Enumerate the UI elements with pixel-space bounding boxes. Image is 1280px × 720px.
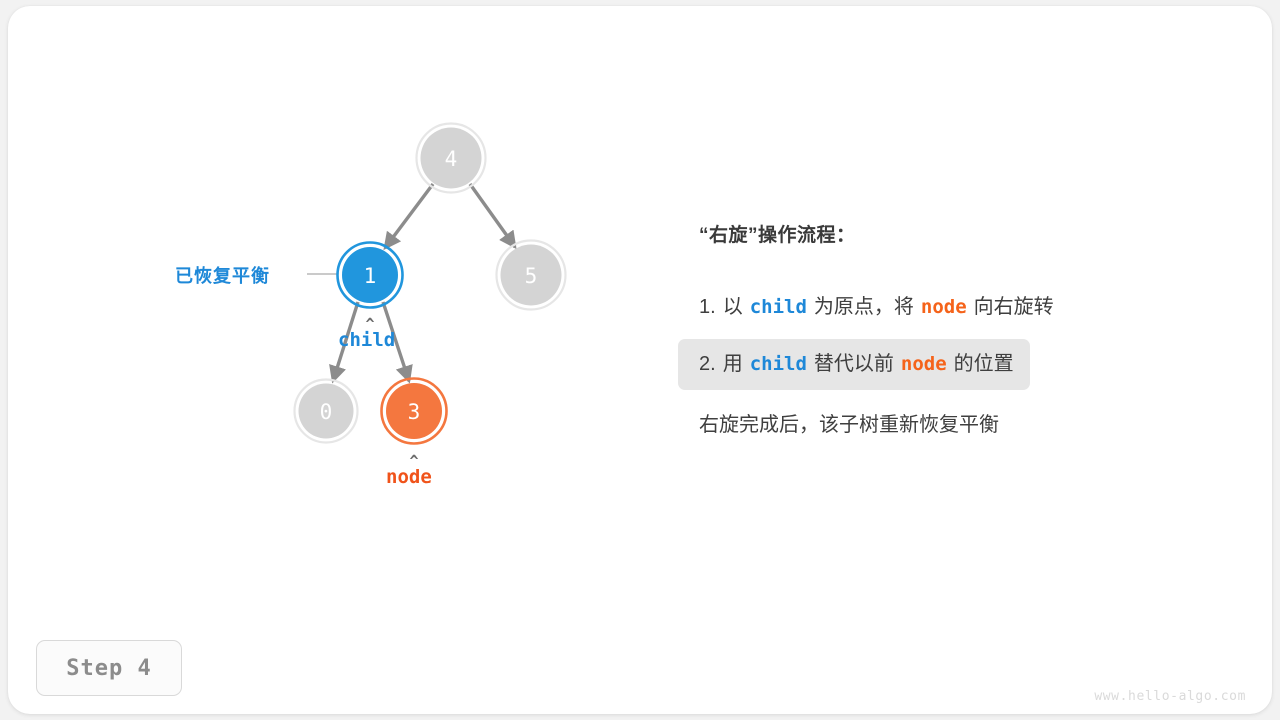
tree-node-0[interactable]: 0 <box>295 380 358 443</box>
label-node: node <box>386 466 432 488</box>
step-1-keyword-node: node <box>921 296 967 318</box>
step-1-part-2: 为原点，将 <box>814 296 914 318</box>
tree-node-0-value: 0 <box>320 400 333 424</box>
step-1-index: 1. <box>699 296 716 318</box>
step-1-part-0: 以 <box>723 296 743 318</box>
step-2-index: 2. <box>699 353 716 375</box>
edge-4-5 <box>470 184 515 247</box>
tree-node-4-value: 4 <box>445 147 458 171</box>
tree-node-5[interactable]: 5 <box>497 241 566 310</box>
step-1-keyword-child: child <box>750 296 807 318</box>
step-2-part-4: 的位置 <box>954 353 1014 375</box>
panel-conclusion: 右旋完成后，该子树重新恢复平衡 <box>699 412 1198 438</box>
step-2-part-2: 替代以前 <box>814 353 894 375</box>
tree-node-1[interactable]: 1 <box>338 243 403 308</box>
tree-node-3[interactable]: 3 <box>382 379 447 444</box>
step-item-2: 2.用child替代以前node的位置 <box>678 339 1030 390</box>
page-root: 4 5 0 1 3 ^ ^ 已恢复平衡 child <box>0 0 1280 720</box>
step-badge: Step 4 <box>36 640 182 696</box>
step-item-1: 1.以child为原点，将node向右旋转 <box>678 282 1070 333</box>
watermark: www.hello-algo.com <box>1094 689 1246 704</box>
tree-node-3-value: 3 <box>408 400 421 424</box>
step-2-keyword-child: child <box>750 353 807 375</box>
tree-node-1-value: 1 <box>364 264 377 288</box>
panel-title: “右旋”操作流程： <box>699 222 1198 250</box>
step-1-part-4: 向右旋转 <box>974 296 1054 318</box>
edge-4-1 <box>385 184 433 248</box>
step-2-part-0: 用 <box>723 353 743 375</box>
explanation-panel: “右旋”操作流程： 1.以child为原点，将node向右旋转 2.用child… <box>678 222 1198 438</box>
label-child: child <box>338 329 395 351</box>
step-badge-label: Step 4 <box>66 656 151 681</box>
label-balanced: 已恢复平衡 <box>175 262 270 288</box>
step-2-keyword-node: node <box>901 353 947 375</box>
tree-node-4[interactable]: 4 <box>417 124 486 193</box>
tree-node-5-value: 5 <box>525 264 538 288</box>
